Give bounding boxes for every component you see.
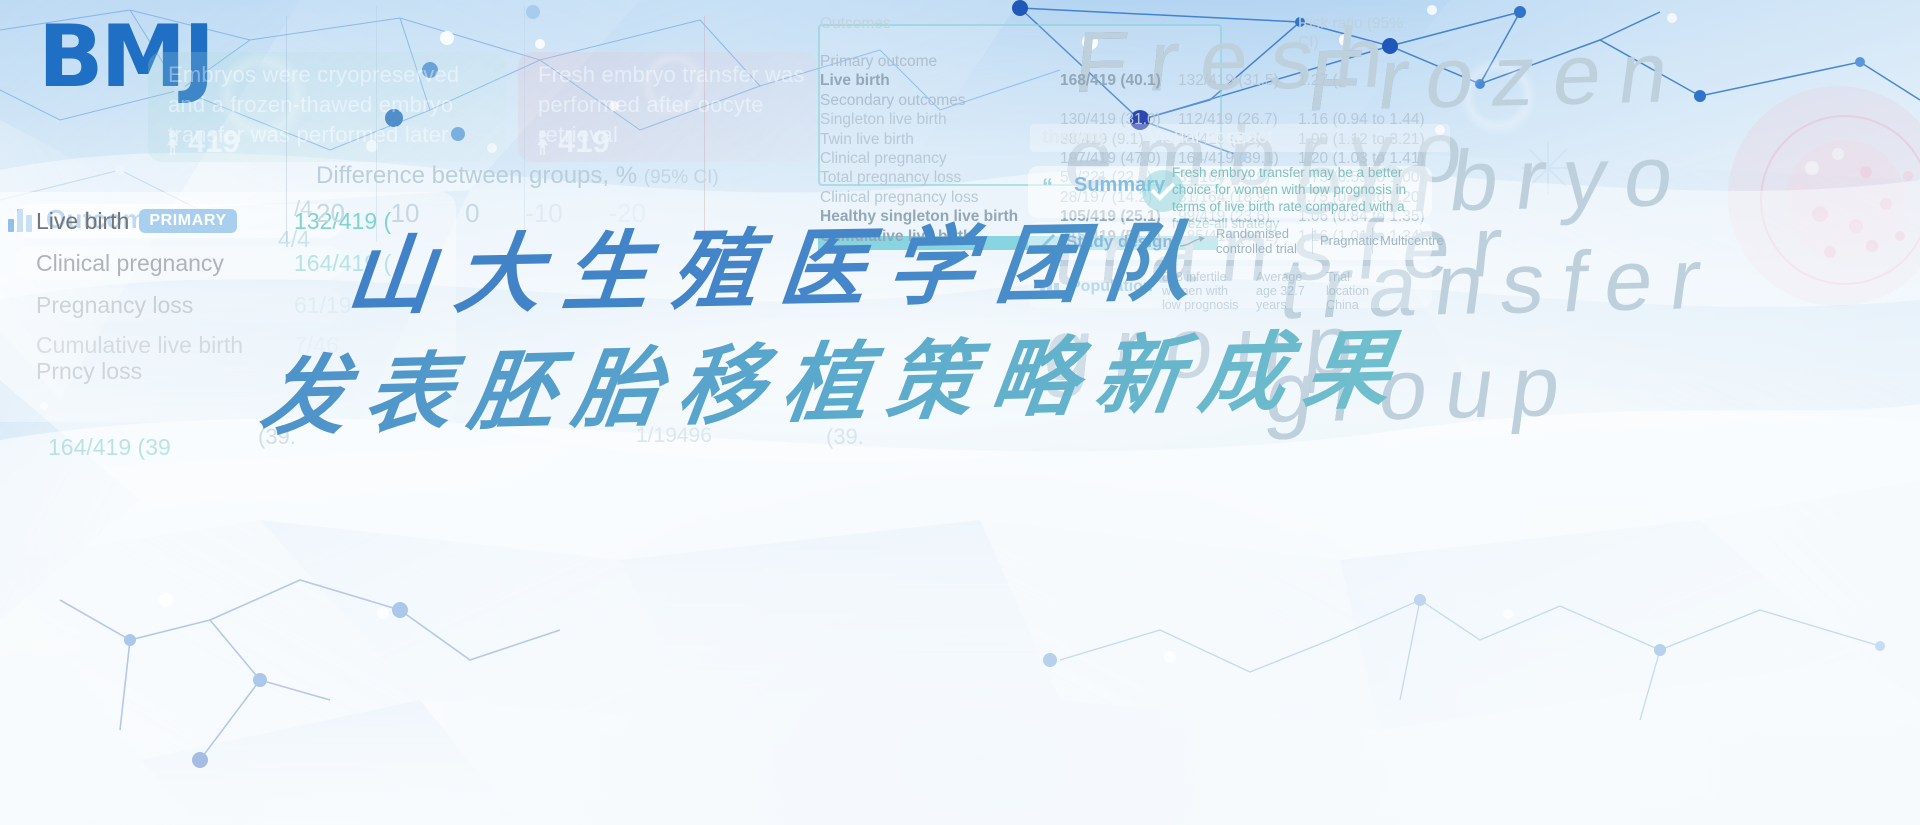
banner-root: BMJ Embryos were cryopreserved and a fro… xyxy=(0,0,1920,825)
tick-label: -10 xyxy=(525,198,563,229)
arm-card-frozen-count: 419 xyxy=(166,124,240,160)
plot-axis-line xyxy=(286,16,287,242)
headline-glow xyxy=(300,250,1380,480)
table-section-label: Primary outcome xyxy=(820,52,1420,71)
outcome-label: Pregnancy loss xyxy=(36,292,193,319)
column-header-risk-ratio: Risk ratio (95% CI) xyxy=(1298,14,1408,53)
outcome-label: Clinical pregnancy xyxy=(36,250,224,277)
arm-card-frozen: Embryos were cryopreserved and a frozen-… xyxy=(148,52,506,162)
column-header-outcomes: Outcomes xyxy=(820,14,891,33)
forest-plot-header: Difference between groups, % (95% CI) 20… xyxy=(316,148,672,230)
study-design-value-3: Multicentre xyxy=(1380,233,1444,248)
tick-label: 0 xyxy=(465,198,479,229)
outcome-label: Prncy loss xyxy=(36,358,142,385)
table-row: Live birth 168/419 (40.1) 132/419 (31.5)… xyxy=(820,71,1420,90)
visual-abstract-bar: thebmj Visual abstract xyxy=(1030,124,1450,152)
results-table-header: Outcomes Fresh embryo transfer group Fro… xyxy=(820,14,1420,52)
plot-axis-line-right xyxy=(704,16,705,242)
forest-plot-ticks: 20 10 0 -10 -20 xyxy=(316,198,646,229)
tick-label: -20 xyxy=(608,198,646,229)
forest-plot-ci-note: (95% CI) xyxy=(644,167,719,188)
bmj-wordmark: thebmj xyxy=(1042,127,1104,149)
visual-abstract-label: Visual abstract xyxy=(1148,127,1272,149)
table-section-label: Secondary outcomes xyxy=(820,91,1420,110)
status-badge: PRIMARY xyxy=(139,209,236,233)
ghost-value-1: 164/419 (39 xyxy=(48,434,171,461)
tick-label: 10 xyxy=(391,198,420,229)
outcome-label: Live birth xyxy=(36,208,129,235)
ghost-value-5: 4/4 xyxy=(278,226,310,253)
ghost-value-4: /4 xyxy=(294,196,312,222)
pencil-icon xyxy=(1040,231,1058,249)
study-design-label: Study design xyxy=(1066,232,1173,252)
person-icon xyxy=(166,131,179,155)
eye-icon xyxy=(1226,130,1252,146)
quote-icon: “ xyxy=(1042,174,1053,200)
study-design-value-2: Pragmatic xyxy=(1320,233,1379,248)
forest-plot-title: Difference between groups, % (95% CI) xyxy=(316,162,719,190)
arrow-icon xyxy=(1180,236,1206,248)
ghost-value-2: (39. xyxy=(258,424,296,450)
tick-label: 20 xyxy=(316,198,345,229)
arm-card-fresh: Fresh embryo transfer was performed afte… xyxy=(518,52,818,162)
